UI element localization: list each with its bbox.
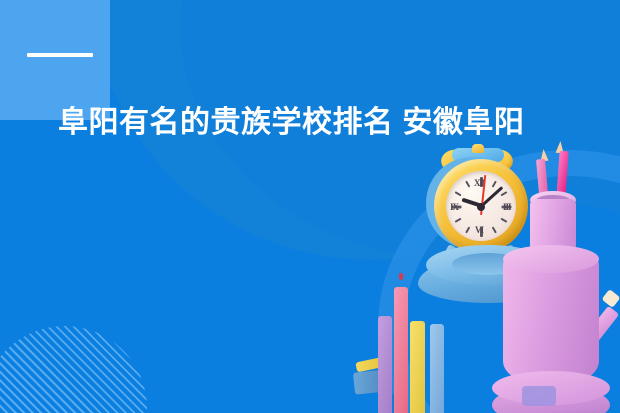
clock-numeral-6: VI (475, 225, 483, 235)
page-title: 阜阳有名的贵族学校排名 安徽阜阳 (58, 104, 558, 142)
colored-pencil-purple (378, 316, 392, 413)
colored-pencil-yellow (410, 321, 425, 413)
clock-numeral-9: IX (450, 202, 458, 212)
clock-numeral-3: III (503, 202, 511, 212)
pen-cup-body (503, 255, 599, 387)
cup-side-marker-tip (601, 289, 620, 308)
clock-knob (472, 144, 484, 153)
pen-cup-base-accent (522, 386, 556, 406)
background-light-block (0, 0, 110, 120)
clock-center-cap (477, 203, 485, 211)
colored-pencil-pink (394, 287, 408, 413)
illustration: XII III VI IX (340, 145, 620, 413)
colored-pencil-pink-lead (399, 273, 403, 280)
accent-rule (27, 53, 93, 57)
banner: 阜阳有名的贵族学校排名 安徽阜阳 XII III VI IX (0, 0, 620, 413)
pen-cup-body-top (503, 245, 599, 273)
colored-pencil-blue (430, 324, 444, 413)
